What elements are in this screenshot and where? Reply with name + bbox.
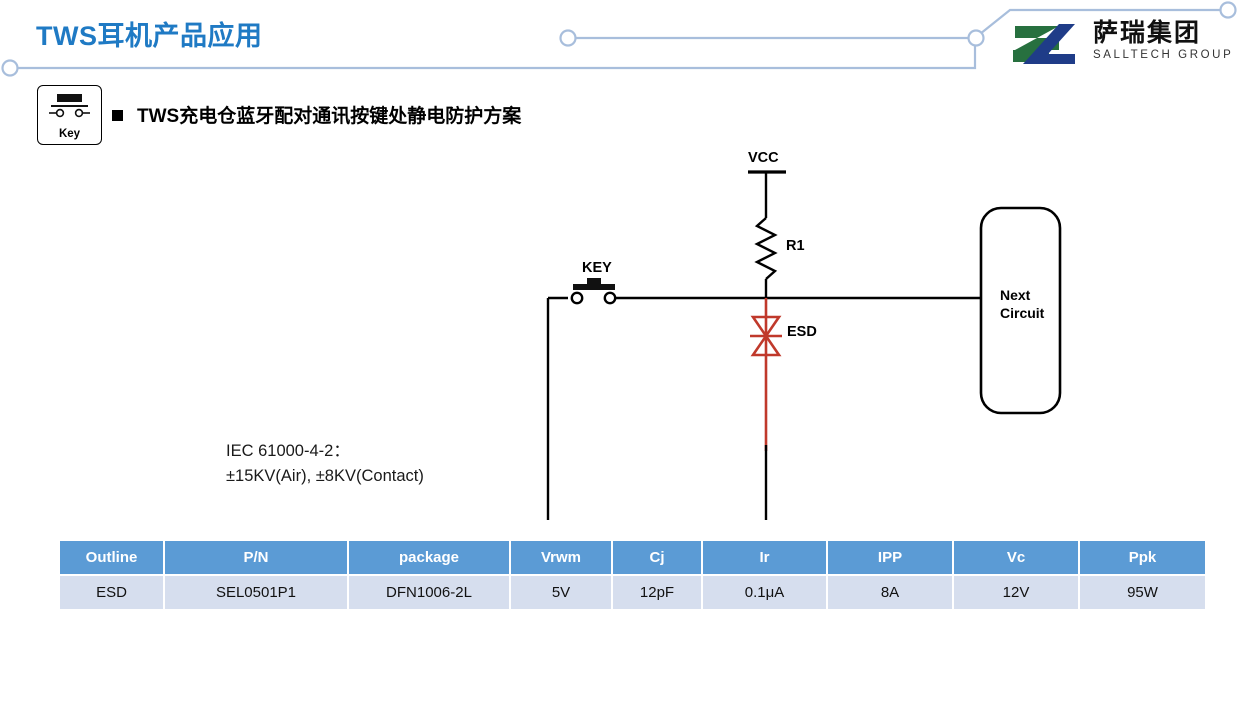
page-header: TWS耳机产品应用 萨瑞集团 SALLTECH GROUP: [0, 0, 1255, 90]
table-cell-cj: 12pF: [613, 576, 701, 609]
pushbutton-switch-icon: [38, 88, 101, 128]
label-next-circuit-line1: Next: [1000, 287, 1031, 303]
logo-text-block: 萨瑞集团 SALLTECH GROUP: [1093, 18, 1245, 63]
label-next-circuit-line2: Circuit: [1000, 305, 1045, 321]
iec-note-line2: ±15KV(Air), ±8KV(Contact): [226, 464, 424, 489]
deco-node-far-left-icon: [3, 61, 18, 76]
iec-standard-note: IEC 61000-4-2： ±15KV(Air), ±8KV(Contact): [226, 439, 424, 489]
iec-note-line1: IEC 61000-4-2：: [226, 439, 424, 464]
square-bullet-icon: [112, 110, 123, 121]
deco-node-mid-icon: [969, 31, 984, 46]
logo-name-en: SALLTECH GROUP: [1093, 48, 1245, 63]
key-actuator-bar-icon: [573, 284, 615, 290]
table-cell-ppk: 95W: [1080, 576, 1205, 609]
key-contact-left-icon: [572, 293, 582, 303]
table-cell-ipp: 8A: [828, 576, 952, 609]
table-header-cell-package: package: [349, 541, 509, 574]
label-r1: R1: [786, 238, 805, 254]
label-esd: ESD: [787, 324, 817, 340]
table-header-row: OutlineP/NpackageVrwmCjIrIPPVcPpk: [60, 541, 1205, 574]
key-contact-right-icon: [605, 293, 615, 303]
table-cell-ir: 0.1μA: [703, 576, 826, 609]
resistor-r1-symbol: [757, 218, 775, 279]
logo-name-cn: 萨瑞集团: [1093, 18, 1245, 48]
table-header-cell-ipp: IPP: [828, 541, 952, 574]
label-vcc: VCC: [748, 150, 779, 166]
table-row: ESDSEL0501P1DFN1006-2L5V12pF0.1μA8A12V95…: [60, 576, 1205, 609]
section-heading: TWS充电仓蓝牙配对通讯按键处静电防护方案: [112, 101, 521, 128]
section-heading-text: TWS充电仓蓝牙配对通讯按键处静电防护方案: [137, 106, 521, 127]
spec-table: OutlineP/NpackageVrwmCjIrIPPVcPpk ESDSEL…: [58, 539, 1207, 611]
table-cell-package: DFN1006-2L: [349, 576, 509, 609]
table-header-cell-ir: Ir: [703, 541, 826, 574]
table-header-cell-cj: Cj: [613, 541, 701, 574]
key-actuator-cap-icon: [587, 278, 601, 284]
company-logo: 萨瑞集团 SALLTECH GROUP: [1013, 18, 1245, 76]
deco-node-right-icon: [1221, 3, 1236, 18]
key-badge-label: Key: [38, 128, 101, 140]
table-header-cell-vrwm: Vrwm: [511, 541, 611, 574]
schematic-svg: VCC R1 KEY ESD GND GND Next Circuit: [0, 140, 1255, 520]
table-header-cell-ppk: Ppk: [1080, 541, 1205, 574]
esd-protection-schematic: VCC R1 KEY ESD GND GND Next Circuit IEC …: [0, 140, 1255, 520]
key-icon-badge: Key: [37, 85, 102, 145]
table-header-cell-vc: Vc: [954, 541, 1078, 574]
table-cell-vc: 12V: [954, 576, 1078, 609]
table-cell-p-n: SEL0501P1: [165, 576, 347, 609]
page-title: TWS耳机产品应用: [36, 14, 263, 53]
label-key: KEY: [582, 260, 612, 276]
deco-node-left-icon: [561, 31, 576, 46]
table-cell-outline: ESD: [60, 576, 163, 609]
table-header-cell-p-n: P/N: [165, 541, 347, 574]
table-cell-vrwm: 5V: [511, 576, 611, 609]
table-header-cell-outline: Outline: [60, 541, 163, 574]
salltech-logo-mark-icon: [1013, 20, 1085, 68]
